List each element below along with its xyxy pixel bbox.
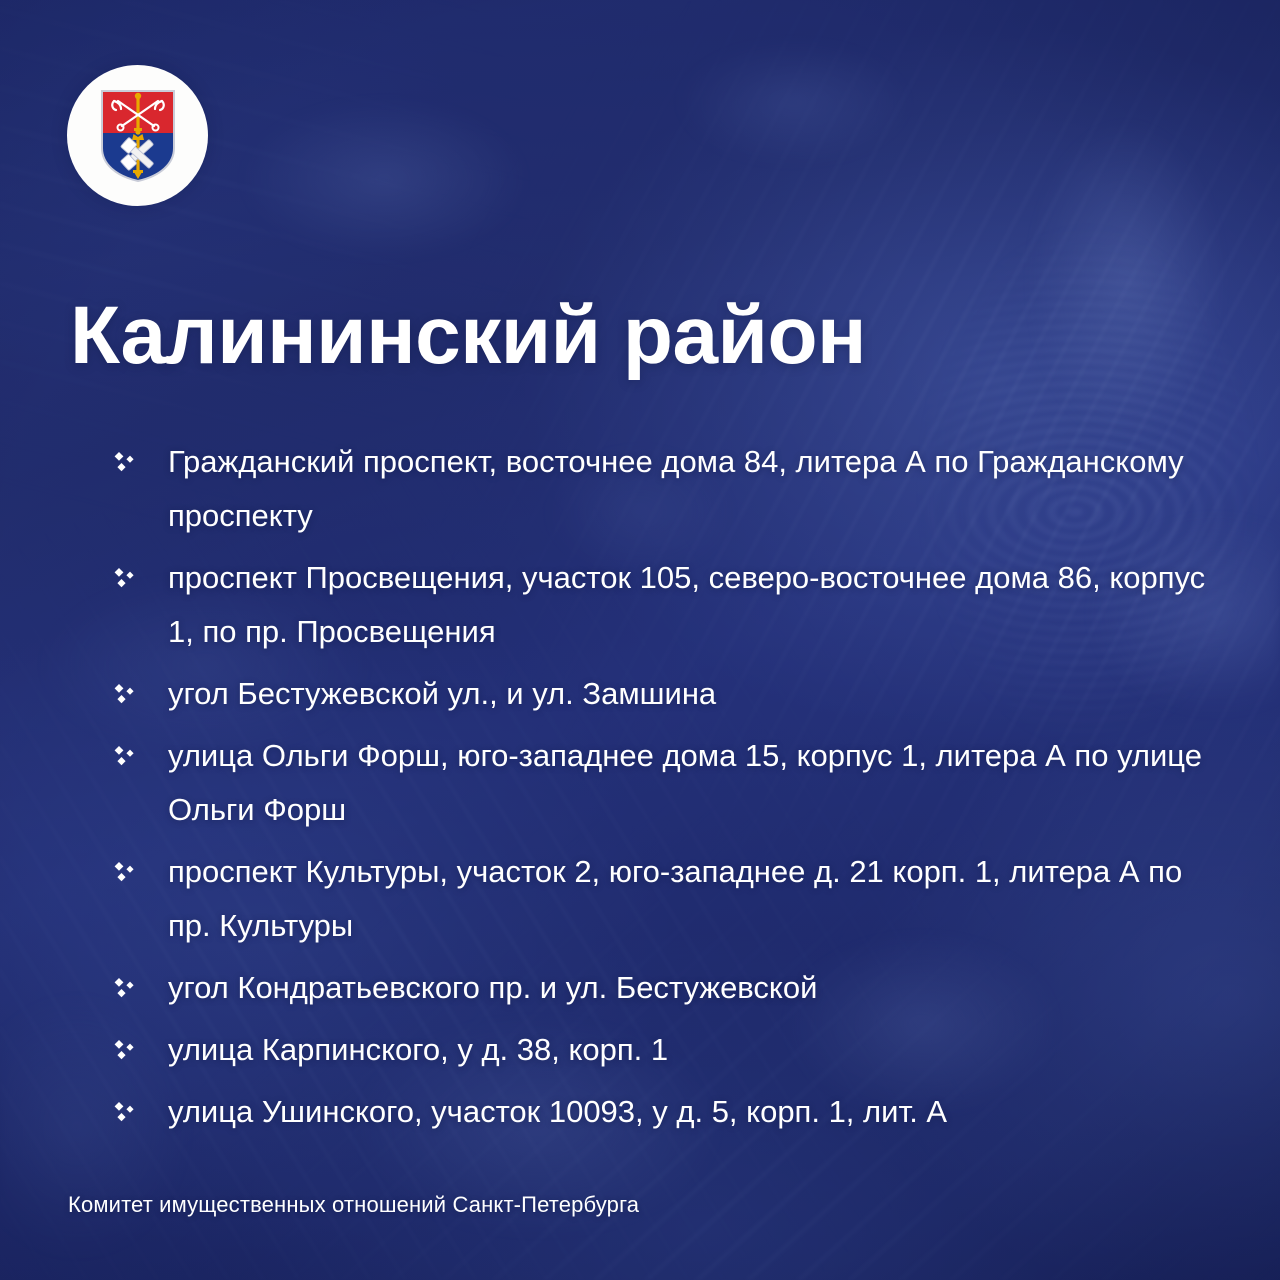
list-item: Гражданский проспект, восточнее дома 84,… bbox=[108, 435, 1210, 543]
diamond-bullet-icon bbox=[112, 862, 136, 884]
list-item: улица Ольги Форш, юго-западнее дома 15, … bbox=[108, 729, 1210, 837]
list-item-text: угол Кондратьевского пр. и ул. Бестужевс… bbox=[168, 970, 817, 1005]
list-item: улица Ушинского, участок 10093, у д. 5, … bbox=[108, 1085, 1210, 1139]
spb-coat-of-arms-logo bbox=[67, 65, 208, 206]
list-item: проспект Культуры, участок 2, юго-западн… bbox=[108, 845, 1210, 953]
list-item-text: проспект Культуры, участок 2, юго-западн… bbox=[168, 854, 1182, 943]
poster-canvas: Калининский район Гражданский проспект, … bbox=[0, 0, 1280, 1280]
diamond-bullet-icon bbox=[112, 978, 136, 1000]
list-item-text: угол Бестужевской ул., и ул. Замшина bbox=[168, 676, 716, 711]
diamond-bullet-icon bbox=[112, 1102, 136, 1124]
address-list: Гражданский проспект, восточнее дома 84,… bbox=[108, 435, 1210, 1139]
list-item-text: улица Карпинского, у д. 38, корп. 1 bbox=[168, 1032, 668, 1067]
coat-of-arms-icon bbox=[98, 88, 178, 184]
diamond-bullet-icon bbox=[112, 1040, 136, 1062]
list-item: угол Кондратьевского пр. и ул. Бестужевс… bbox=[108, 961, 1210, 1015]
list-item-text: Гражданский проспект, восточнее дома 84,… bbox=[168, 444, 1184, 533]
diamond-bullet-icon bbox=[112, 746, 136, 768]
list-item-text: проспект Просвещения, участок 105, север… bbox=[168, 560, 1205, 649]
footer-attribution: Комитет имущественных отношений Санкт-Пе… bbox=[68, 1192, 639, 1218]
list-item: проспект Просвещения, участок 105, север… bbox=[108, 551, 1210, 659]
page-title: Калининский район bbox=[70, 295, 866, 377]
list-item-text: улица Ольги Форш, юго-западнее дома 15, … bbox=[168, 738, 1202, 827]
list-item: угол Бестужевской ул., и ул. Замшина bbox=[108, 667, 1210, 721]
diamond-bullet-icon bbox=[112, 452, 136, 474]
diamond-bullet-icon bbox=[112, 568, 136, 590]
list-item-text: улица Ушинского, участок 10093, у д. 5, … bbox=[168, 1094, 947, 1129]
list-item: улица Карпинского, у д. 38, корп. 1 bbox=[108, 1023, 1210, 1077]
poster-content: Калининский район Гражданский проспект, … bbox=[0, 0, 1280, 1280]
diamond-bullet-icon bbox=[112, 684, 136, 706]
